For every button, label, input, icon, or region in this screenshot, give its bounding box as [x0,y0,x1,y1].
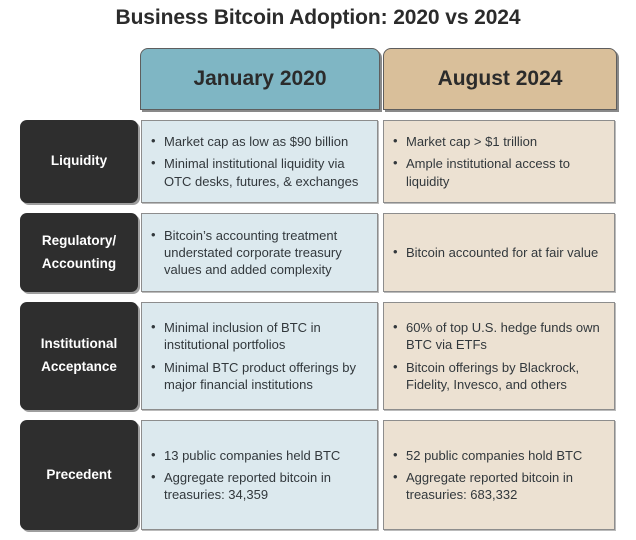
list-item: 52 public companies hold BTC [392,447,604,464]
cell-2020-precedent: 13 public companies held BTC Aggregate r… [141,420,378,530]
list-item: Market cap as low as $90 billion [150,133,367,150]
row-label-regulatory-accounting: Regulatory/ Accounting [20,213,138,292]
column-header-2020-label: January 2020 [193,67,326,91]
bullet-list: 60% of top U.S. hedge funds own BTC via … [392,314,604,398]
row-label-institutional-acceptance: Institutional Acceptance [20,302,138,410]
cell-2020-liquidity: Market cap as low as $90 billion Minimal… [141,120,378,203]
list-item: Market cap > $1 trillion [392,133,604,150]
list-item: 13 public companies held BTC [150,447,367,464]
page-title: Business Bitcoin Adoption: 2020 vs 2024 [0,6,636,30]
row-label-line: Precedent [46,464,111,487]
list-item: Bitcoin’s accounting treatment understat… [150,227,367,278]
bullet-list: Bitcoin accounted for at fair value [392,239,604,266]
cell-2020-institutional-acceptance: Minimal inclusion of BTC in institutiona… [141,302,378,410]
bullet-list: 13 public companies held BTC Aggregate r… [150,442,367,508]
cell-2024-precedent: 52 public companies hold BTC Aggregate r… [383,420,615,530]
list-item: Minimal inclusion of BTC in institutiona… [150,319,367,353]
list-item: Aggregate reported bitcoin in treasuries… [392,469,604,503]
table-row: Regulatory/ Accounting Bitcoin’s account… [0,213,636,292]
bullet-list: Market cap > $1 trillion Ample instituti… [392,128,604,194]
list-item: 60% of top U.S. hedge funds own BTC via … [392,319,604,353]
list-item: Bitcoin offerings by Blackrock, Fidelity… [392,359,604,393]
row-label-line: Accounting [42,253,116,276]
list-item: Aggregate reported bitcoin in treasuries… [150,469,367,503]
table-row: Institutional Acceptance Minimal inclusi… [0,302,636,410]
cell-2020-regulatory-accounting: Bitcoin’s accounting treatment understat… [141,213,378,292]
table-header-row: January 2020 August 2024 [0,48,636,108]
table-row: Liquidity Market cap as low as $90 billi… [0,120,636,203]
cell-2024-regulatory-accounting: Bitcoin accounted for at fair value [383,213,615,292]
list-item: Minimal BTC product offerings by major f… [150,359,367,393]
comparison-table-infographic: Business Bitcoin Adoption: 2020 vs 2024 … [0,0,636,540]
bullet-list: Minimal inclusion of BTC in institutiona… [150,314,367,398]
bullet-list: Market cap as low as $90 billion Minimal… [150,128,367,194]
bullet-list: Bitcoin’s accounting treatment understat… [150,222,367,283]
list-item: Bitcoin accounted for at fair value [392,244,604,261]
cell-2024-liquidity: Market cap > $1 trillion Ample instituti… [383,120,615,203]
column-header-2024: August 2024 [383,48,617,110]
cell-2024-institutional-acceptance: 60% of top U.S. hedge funds own BTC via … [383,302,615,410]
column-header-2024-label: August 2024 [438,67,563,91]
row-label-line: Institutional [41,333,118,356]
row-label-line: Regulatory/ [42,230,116,253]
list-item: Ample institutional access to liquidity [392,155,604,189]
list-item: Minimal institutional liquidity via OTC … [150,155,367,189]
table-row: Precedent 13 public companies held BTC A… [0,420,636,530]
row-label-precedent: Precedent [20,420,138,530]
row-label-line: Acceptance [41,356,117,379]
row-label-liquidity: Liquidity [20,120,138,203]
row-label-line: Liquidity [51,150,107,173]
column-header-2020: January 2020 [140,48,380,110]
bullet-list: 52 public companies hold BTC Aggregate r… [392,442,604,508]
